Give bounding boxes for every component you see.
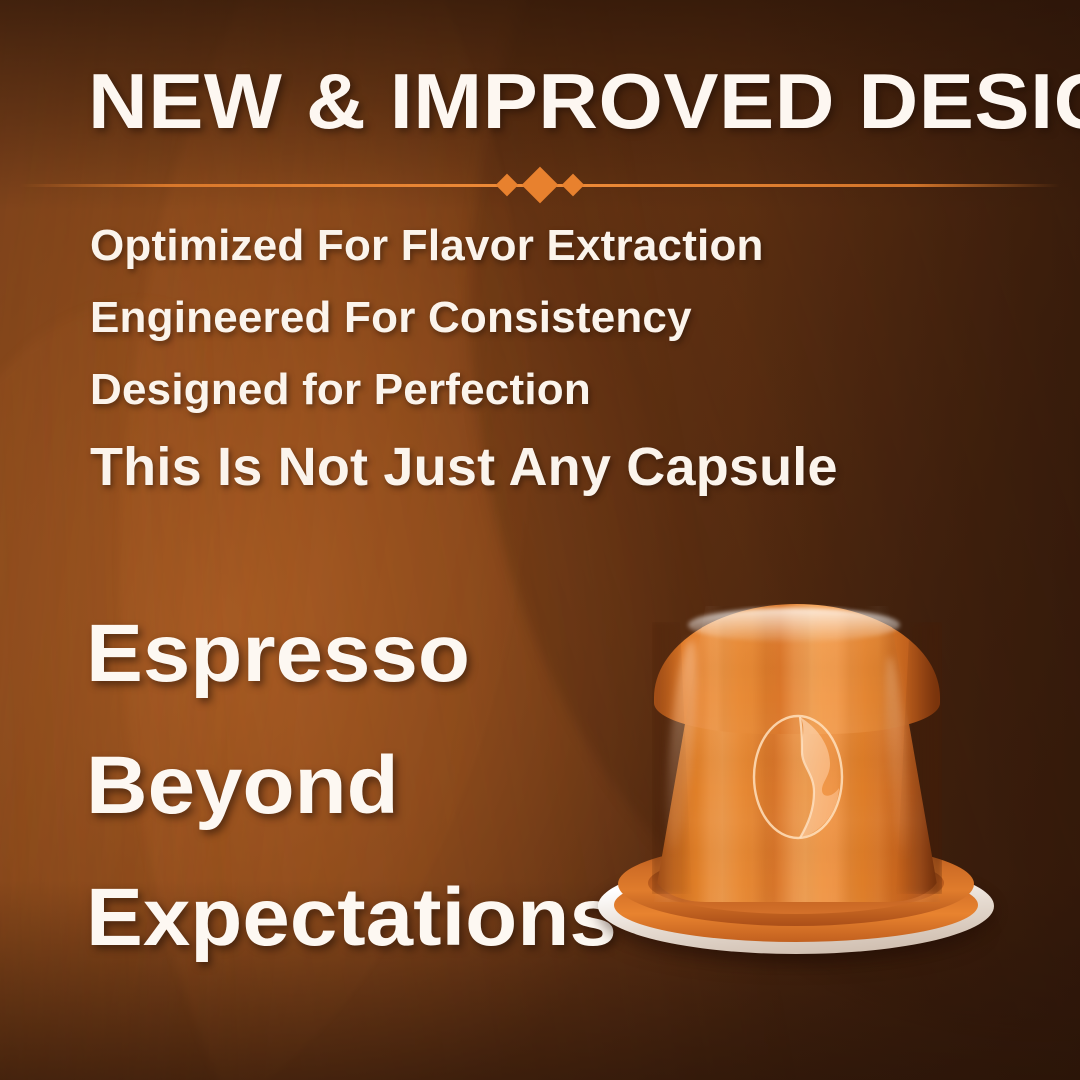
feature-item: Designed for Perfection xyxy=(90,354,910,426)
feature-item: Optimized For Flavor Extraction xyxy=(90,210,910,282)
divider xyxy=(20,168,1060,202)
feature-list: Optimized For Flavor Extraction Engineer… xyxy=(90,210,910,508)
slogan-block: Espresso Beyond Expectations xyxy=(86,588,626,984)
capsule-top-specular-highlight xyxy=(688,608,900,642)
slogan-line: Expectations xyxy=(86,852,648,984)
page-title: NEW & IMPROVED DESIGN xyxy=(88,62,915,140)
coffee-capsule-image xyxy=(596,596,996,968)
poster-canvas: NEW & IMPROVED DESIGN Optimized For Flav… xyxy=(0,0,1080,1080)
feature-item-emphasis: This Is Not Just Any Capsule xyxy=(90,426,910,508)
feature-item: Engineered For Consistency xyxy=(90,282,910,354)
slogan-line: Espresso xyxy=(86,588,648,720)
diamond-ornament-right-icon xyxy=(562,174,585,197)
diamond-ornament-left-icon xyxy=(496,174,519,197)
diamond-ornament-center-icon xyxy=(522,167,559,204)
coffee-bean-icon xyxy=(744,712,852,842)
slogan-line: Beyond xyxy=(86,720,648,852)
